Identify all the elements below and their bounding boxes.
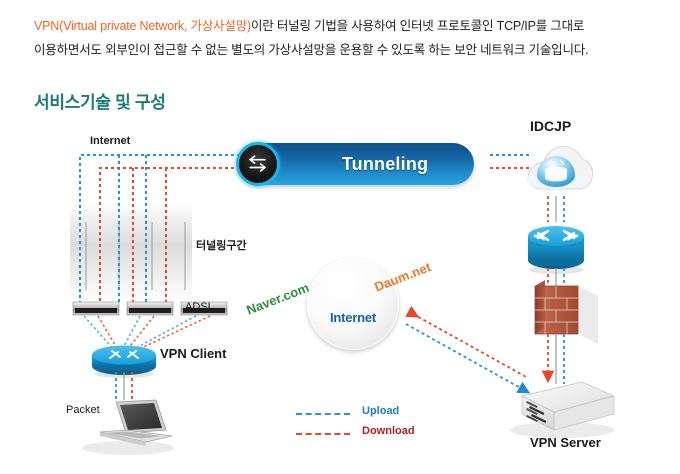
tunnel-zone-graphic [70, 204, 192, 302]
legend-label-upload: Upload [362, 405, 399, 417]
internet-bubble-label: Internet [307, 310, 399, 325]
adsl-modem [127, 302, 173, 315]
legend-item-download: Download [296, 425, 446, 445]
adsl-modem [73, 302, 119, 315]
modem-to-client-download [98, 316, 210, 350]
tunneling-banner-label: Tunneling [296, 143, 474, 185]
firewall-to-server-links [548, 334, 564, 384]
vpn-diagram-page: VPN(Virtual private Network, 가상사설망)이란 터널… [0, 0, 680, 474]
idc-router-icon [528, 226, 584, 274]
internet-download-link [413, 314, 528, 378]
bidirectional-arrows-icon [236, 142, 280, 186]
intro-line2: 이용하면서도 외부인이 접근할 수 없는 별도의 가상사설망을 운용할 수 있도… [34, 43, 588, 57]
label-adsl: ADSL [185, 301, 214, 313]
internet-bubble [307, 258, 399, 350]
intro-paragraph: VPN(Virtual private Network, 가상사설망)이란 터널… [34, 14, 646, 62]
legend-dash-upload [296, 413, 350, 415]
legend: Upload Download [296, 405, 446, 445]
label-packet: Packet [66, 404, 100, 416]
network-diagram: Tunneling Internet Naver.com Daum.net In… [0, 118, 680, 474]
cloud-to-router-links [548, 196, 564, 222]
label-vpn-server: VPN Server [530, 435, 601, 450]
label-idcjp: IDCJP [530, 118, 571, 134]
legend-label-download: Download [362, 425, 415, 437]
label-internet-top: Internet [90, 135, 130, 147]
server-stack-glyph [545, 167, 567, 182]
firewall-icon [535, 280, 598, 344]
internet-upload-link [406, 324, 524, 390]
section-title: 서비스기술 및 구성 [34, 88, 166, 113]
vpn-server-icon [510, 382, 614, 438]
label-vpn-client: VPN Client [160, 346, 226, 361]
label-tunnel-zone: 터널링구간 [196, 237, 247, 253]
idcjp-cloud-icon [526, 147, 593, 189]
legend-item-upload: Upload [296, 405, 446, 425]
intro-rest-line1: 이란 터널링 기법을 사용하여 인터넷 프로토콜인 TCP/IP를 그대로 [251, 19, 584, 33]
intro-highlight: VPN(Virtual private Network, 가상사설망) [34, 19, 251, 33]
legend-dash-download [296, 433, 350, 435]
